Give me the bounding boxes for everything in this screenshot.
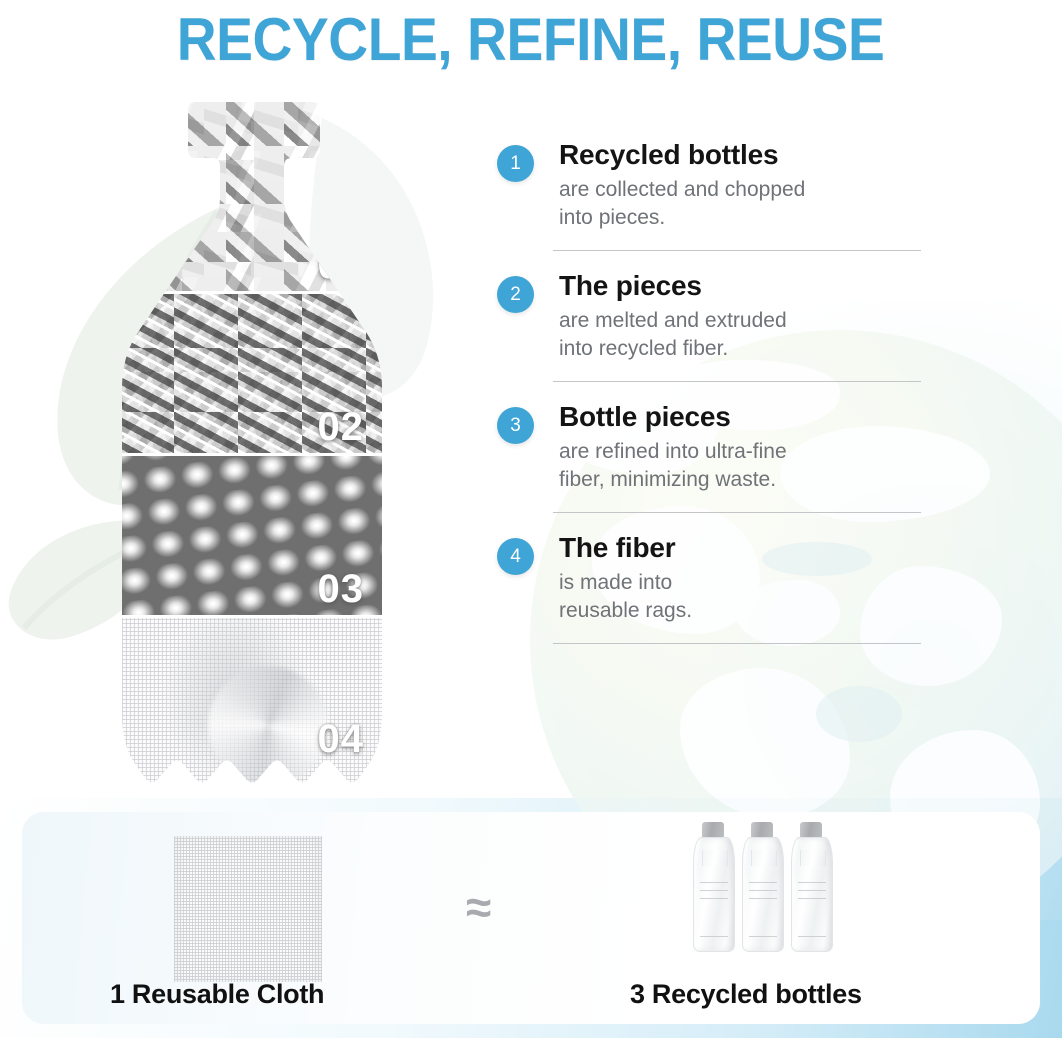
page-title-text: RECYCLE, REFINE, REUSE [177,5,885,74]
bottle-icon [693,822,733,950]
flakes-texture [120,98,388,294]
step-body: are collected and chopped into pieces. [559,176,937,232]
bottle-icon [791,822,831,950]
step-divider [553,250,921,251]
approximately-equal-icon: ≈ [466,884,491,930]
step-item: 2 The pieces are melted and extruded int… [497,271,937,363]
step-item: 4 The fiber is made into reusable rags. [497,533,937,625]
step-title: Recycled bottles [559,140,937,170]
bottle-body [693,837,735,952]
step-number-badge: 2 [497,276,534,313]
step-body: are refined into ultra-fine fiber, minim… [559,438,937,494]
step-body: are melted and extruded into recycled fi… [559,307,937,363]
bottle-segment-number: 01 [318,243,365,288]
step-divider [553,381,921,382]
steps-list: 1 Recycled bottles are collected and cho… [497,140,937,664]
bottle-segment-02: 02 [120,294,388,456]
step-title: Bottle pieces [559,402,937,432]
step-body: is made into reusable rags. [559,569,937,625]
bottle-segment-number: 02 [318,405,365,450]
step-number-badge: 1 [497,145,534,182]
cloth-swirl [208,666,328,786]
step-divider [553,643,921,644]
step-title: The fiber [559,533,937,563]
bottle-segment-04: 04 [120,618,388,798]
right-caption: 3 Recycled bottles [630,979,862,1010]
step-number-badge: 4 [497,538,534,575]
step-number-badge: 3 [497,407,534,444]
bottle-icon [742,822,782,950]
bottle-body [791,837,833,952]
bottle-segment-01: 01 [120,98,388,294]
left-caption: 1 Reusable Cloth [110,979,324,1010]
step-item: 3 Bottle pieces are refined into ultra-f… [497,402,937,494]
infographic-page: RECYCLE, REFINE, REUSE 01 02 03 04 [0,0,1062,1038]
step-title: The pieces [559,271,937,301]
bottle-body [742,837,784,952]
bottle-segment-03: 03 [120,456,388,618]
bottle-segment-number: 04 [318,717,365,762]
page-title: RECYCLE, REFINE, REUSE [0,0,1062,78]
step-divider [553,512,921,513]
reusable-cloth-image [174,836,322,982]
bottle-collage: 01 02 03 04 [120,98,388,798]
step-item: 1 Recycled bottles are collected and cho… [497,140,937,232]
recycled-bottles-image [693,822,833,952]
bottle-segment-number: 03 [318,567,365,612]
